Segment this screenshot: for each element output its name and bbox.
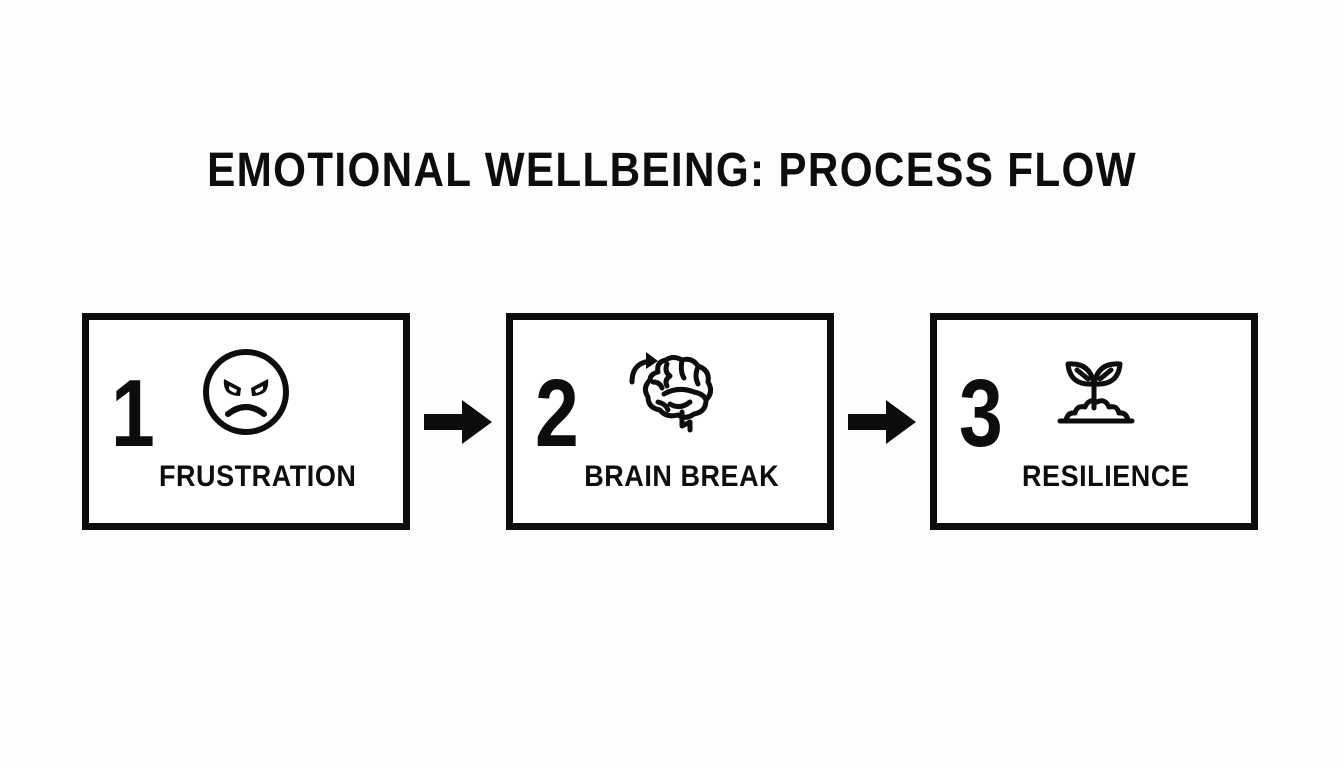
page-title: EMOTIONAL WELLBEING: PROCESS FLOW (81, 143, 1264, 199)
slide-canvas: EMOTIONAL WELLBEING: PROCESS FLOW 1 FRUS (0, 0, 1344, 768)
step-number: 1 (111, 366, 155, 462)
arrow-right-icon (422, 394, 494, 450)
process-flow: 1 FRUSTRATION (82, 313, 1258, 530)
process-step-2[interactable]: 2 (506, 313, 834, 530)
step-label: FRUSTRATION (105, 460, 388, 494)
arrow-right-icon (846, 394, 918, 450)
step-label: RESILIENCE (953, 460, 1236, 494)
process-step-3[interactable]: 3 (930, 313, 1258, 530)
angry-face-icon (196, 342, 296, 442)
step-number: 2 (535, 366, 579, 462)
step-label: BRAIN BREAK (529, 460, 812, 494)
sprout-icon (1044, 342, 1144, 442)
process-step-1[interactable]: 1 FRUSTRATION (82, 313, 410, 530)
brain-refresh-icon (620, 342, 720, 442)
step-number: 3 (959, 366, 1003, 462)
